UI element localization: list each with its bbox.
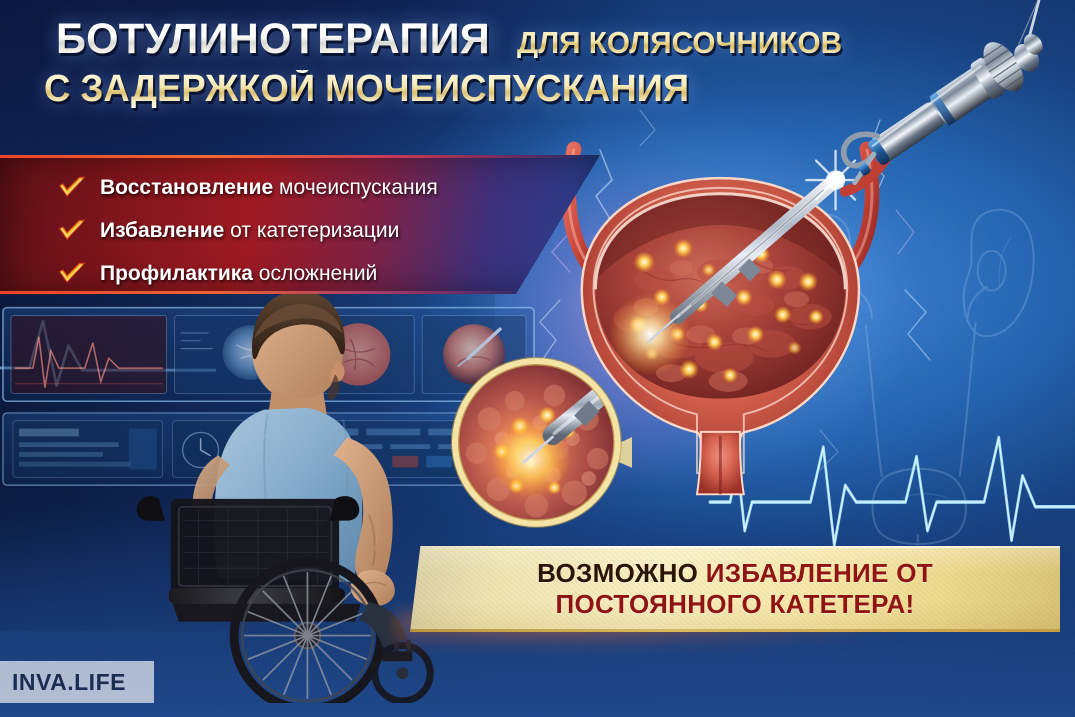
cta-line-two: ПОСТОЯННОГО КАТЕТЕРА!	[555, 590, 914, 619]
list-item: Восстановление мочеиспускания	[58, 169, 438, 206]
headline-line-two: С ЗАДЕРЖКОЙ МОЧЕИСПУСКАНИЯ	[44, 70, 1034, 108]
logo-badge[interactable]: INVA.LIFE	[0, 661, 154, 703]
cta-text-block: ВОЗМОЖНО ИЗБАВЛЕНИЕ ОТ ПОСТОЯННОГО КАТЕТ…	[410, 546, 1060, 632]
cta-plate: ВОЗМОЖНО ИЗБАВЛЕНИЕ ОТ ПОСТОЯННОГО КАТЕТ…	[410, 546, 1060, 632]
check-icon	[58, 262, 86, 286]
benefit-light: осложнений	[253, 262, 377, 285]
check-icon	[58, 176, 86, 200]
benefit-strong: Избавление	[100, 219, 224, 242]
benefit-light: мочеиспускания	[273, 176, 438, 199]
headline-block: БОТУЛИНОТЕРАПИЯ ДЛЯ КОЛЯСОЧНИКОВ С ЗАДЕР…	[0, 0, 1075, 108]
tissue-closeup-magnifier-inset-icon	[446, 351, 627, 534]
benefits-list: Восстановление мочеиспускания Избавление…	[58, 169, 438, 298]
cta-line-one: ВОЗМОЖНО ИЗБАВЛЕНИЕ ОТ	[537, 559, 933, 588]
banner-canvas: БОТУЛИНОТЕРАПИЯ ДЛЯ КОЛЯСОЧНИКОВ С ЗАДЕР…	[0, 0, 1075, 717]
cta-line-one-red: ИЗБАВЛЕНИЕ ОТ	[706, 558, 933, 588]
headline-sub: ДЛЯ КОЛЯСОЧНИКОВ	[517, 27, 842, 58]
cta-line-one-dark: ВОЗМОЖНО	[537, 558, 706, 588]
benefit-text: Восстановление мочеиспускания	[100, 176, 438, 200]
benefit-light: от катетеризации	[224, 219, 399, 242]
benefit-text: Профилактика осложнений	[100, 262, 377, 286]
list-item: Профилактика осложнений	[58, 255, 438, 292]
benefit-strong: Восстановление	[100, 176, 273, 199]
logo-text: INVA.LIFE	[12, 669, 126, 696]
benefits-band: Восстановление мочеиспускания Избавление…	[0, 155, 600, 294]
benefits-band-top-edge	[0, 155, 600, 158]
benefit-strong: Профилактика	[100, 262, 253, 285]
headline-main: БОТУЛИНОТЕРАПИЯ	[56, 18, 490, 61]
benefit-text: Избавление от катетеризации	[100, 219, 399, 243]
list-item: Избавление от катетеризации	[58, 212, 438, 249]
check-icon	[58, 219, 86, 243]
